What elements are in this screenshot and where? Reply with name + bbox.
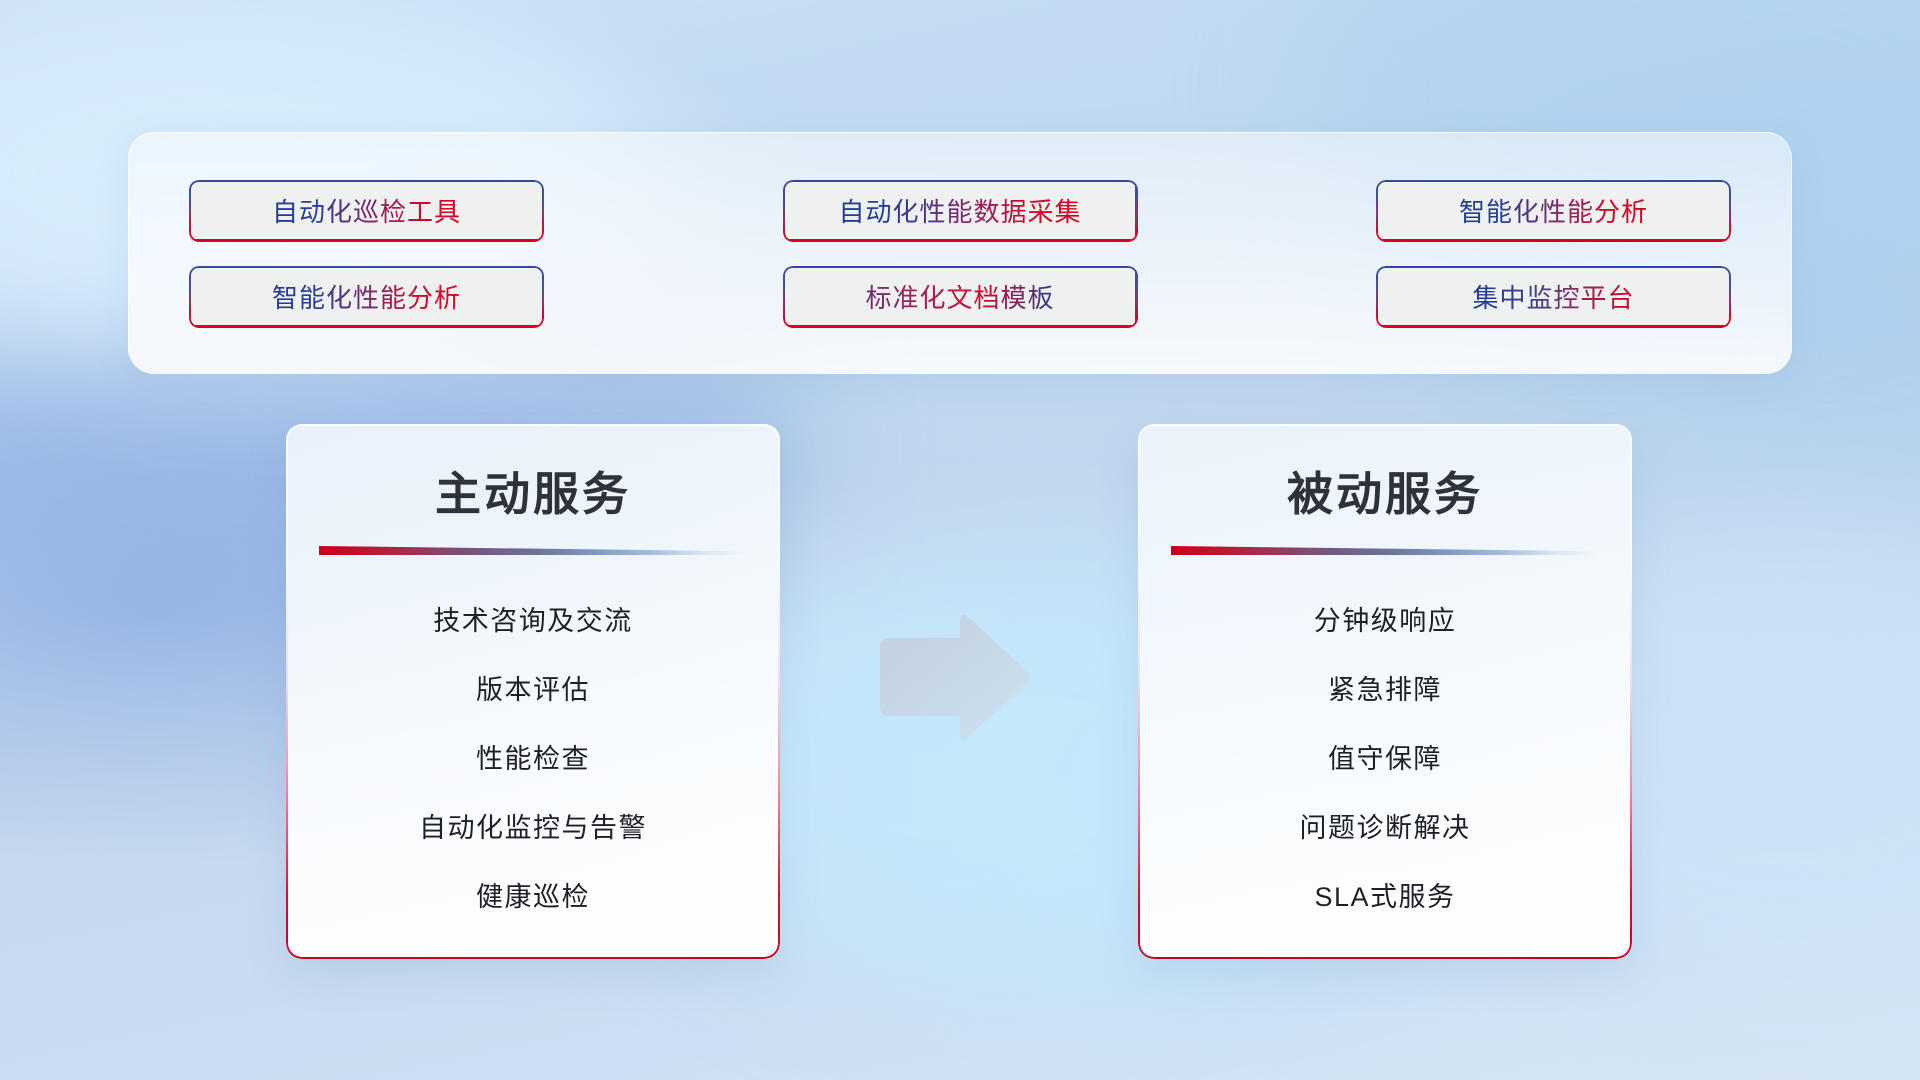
card-divider <box>319 546 747 555</box>
card-list-item: 紧急排障 <box>1328 668 1442 707</box>
card-title: 被动服务 <box>1138 458 1632 524</box>
capability-pill-standardized-document-template[interactable]: 标准化文档模板 <box>783 266 1138 328</box>
capability-pill-automated-inspection-tool[interactable]: 自动化巡检工具 <box>189 180 544 242</box>
capability-pill-label: 自动化巡检工具 <box>272 192 461 229</box>
card-item-list: 技术咨询及交流 版本评估 性能检查 自动化监控与告警 健康巡检 <box>286 599 780 914</box>
card-divider-bar <box>1171 546 1599 555</box>
capability-pill-centralized-monitoring-platform[interactable]: 集中监控平台 <box>1376 266 1731 328</box>
card-list-item: 技术咨询及交流 <box>433 599 633 638</box>
service-card-proactive: 主动服务 技术咨询及交流 版本评估 性能检查 自动化监控与告警 健康巡检 <box>286 424 780 959</box>
capability-pill-intelligent-performance-analysis-bottom[interactable]: 智能化性能分析 <box>189 266 544 328</box>
capability-pill-intelligent-performance-analysis-top[interactable]: 智能化性能分析 <box>1376 180 1731 242</box>
card-item-list: 分钟级响应 紧急排障 值守保障 问题诊断解决 SLA式服务 <box>1138 599 1632 914</box>
arrow-right-icon <box>874 612 1034 742</box>
card-list-item: 自动化监控与告警 <box>419 806 647 845</box>
service-card-reactive: 被动服务 分钟级响应 紧急排障 值守保障 问题诊断解决 SLA式服务 <box>1138 424 1632 959</box>
card-list-item: 分钟级响应 <box>1314 599 1457 638</box>
capability-pill-label: 集中监控平台 <box>1472 278 1634 315</box>
capability-pill-label: 智能化性能分析 <box>272 278 461 315</box>
capability-pill-automated-performance-data-collection[interactable]: 自动化性能数据采集 <box>783 180 1138 242</box>
card-list-item: 问题诊断解决 <box>1300 806 1471 845</box>
card-list-item: SLA式服务 <box>1314 875 1455 914</box>
capability-row-1: 自动化巡检工具 自动化性能数据采集 智能化性能分析 <box>189 180 1731 242</box>
capability-row-2: 智能化性能分析 标准化文档模板 集中监控平台 <box>189 266 1731 328</box>
capability-panel: 自动化巡检工具 自动化性能数据采集 智能化性能分析 智能化性能分析 标准化文档模… <box>128 132 1792 374</box>
capability-pill-label: 智能化性能分析 <box>1459 192 1648 229</box>
card-divider-bar <box>319 546 747 555</box>
card-list-item: 健康巡检 <box>476 875 590 914</box>
capability-pill-label: 自动化性能数据采集 <box>838 192 1081 229</box>
card-list-item: 性能检查 <box>476 737 590 776</box>
slide-canvas: 自动化巡检工具 自动化性能数据采集 智能化性能分析 智能化性能分析 标准化文档模… <box>0 0 1920 1080</box>
capability-pill-label: 标准化文档模板 <box>865 278 1054 315</box>
card-divider <box>1171 546 1599 555</box>
card-list-item: 值守保障 <box>1328 737 1442 776</box>
card-list-item: 版本评估 <box>476 668 590 707</box>
card-title: 主动服务 <box>286 458 780 524</box>
